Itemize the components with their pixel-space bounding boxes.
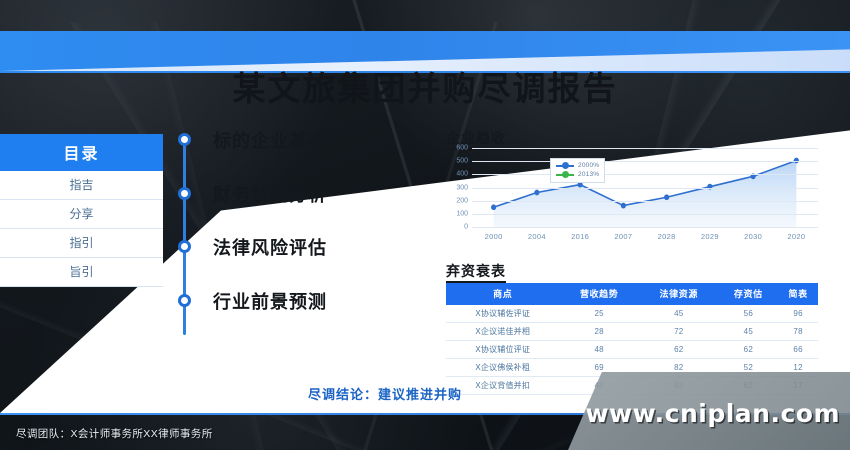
toc-item-3[interactable]: 指引 (0, 229, 163, 258)
chart-x-tick-label: 2004 (528, 232, 546, 241)
table-cell-value: 25 (559, 305, 639, 323)
table-column-header: 存资估 (719, 283, 779, 305)
timeline-row-2[interactable]: 财务状况分析 (175, 184, 425, 238)
chart-y-tick-label: 500 (456, 158, 468, 165)
watermark-text: www.cniplan.com (585, 399, 840, 428)
chart-gridline (472, 227, 818, 228)
chart-x-tick-label: 2030 (744, 232, 762, 241)
table-cell-name: X企议诺佳并相 (446, 323, 559, 341)
chart-section-title: 企业趋收 (446, 128, 506, 148)
table-cell-value: 62 (719, 341, 779, 359)
toc-item-4[interactable]: 旨引 (0, 258, 163, 287)
timeline-row-3[interactable]: 法律风险评估 (175, 237, 425, 291)
table-of-contents: 目录 指吉 分享 指引 旨引 (0, 134, 163, 287)
chart-x-tick-label: 2016 (571, 232, 589, 241)
chart-data-point (664, 194, 669, 200)
timeline-dot-icon (178, 240, 191, 253)
table-row[interactable]: X协议辅位评证48626266 (446, 341, 818, 359)
chart-x-tick-label: 2028 (658, 232, 676, 241)
table-cell-value: 48 (559, 341, 639, 359)
legend-entry-1: 2000% (556, 161, 599, 170)
timeline-row-4[interactable]: 行业前景预测 (175, 291, 425, 345)
timeline-label-3: 法律风险评估 (213, 234, 327, 260)
chart-gridline (472, 214, 818, 215)
timeline-label-2: 财务状况分析 (213, 181, 327, 207)
table-column-header: 简表 (778, 283, 818, 305)
table-cell-value: 45 (719, 323, 779, 341)
conclusion-text: 尽调结论：建议推进并购 (175, 384, 595, 403)
table-cell-name: X协议辅佐评证 (446, 305, 559, 323)
chart-y-tick-label: 400 (456, 171, 468, 178)
page-title: 某文旅集团并购尽调报告 (0, 62, 850, 110)
table-row[interactable]: X协议辅佐评证25455696 (446, 305, 818, 323)
chart-x-tick-label: 2029 (701, 232, 719, 241)
chart-x-tick-label: 2020 (787, 232, 805, 241)
table-cell-value: 56 (719, 305, 779, 323)
chart-y-tick-label: 300 (456, 184, 468, 191)
table-column-header: 法律资源 (639, 283, 719, 305)
table-cell-value: 62 (639, 341, 719, 359)
chart-plot-area: 0100200300400500600200020042016200720282… (472, 148, 818, 227)
legend-label-1: 2000% (578, 162, 599, 169)
timeline-label-1: 标的企业基本情况 (213, 127, 365, 153)
slide-canvas: 某文旅集团并购尽调报告 目录 指吉 分享 指引 旨引 标的企业基本情况 财务状况… (0, 0, 850, 450)
table-cell-name: X协议辅位评证 (446, 341, 559, 359)
timeline-dot-icon (178, 187, 191, 200)
table-row[interactable]: X企议诺佳并相28724578 (446, 323, 818, 341)
toc-item-1[interactable]: 指吉 (0, 171, 163, 200)
table-cell-value: 45 (639, 305, 719, 323)
table-cell-value: 66 (778, 341, 818, 359)
chart-data-point (491, 204, 496, 210)
table-column-header: 营收趋势 (559, 283, 639, 305)
chart-gridline (472, 188, 818, 189)
timeline-label-4: 行业前景预测 (213, 288, 327, 314)
chart-gridline (472, 161, 818, 162)
chart-x-tick-label: 2000 (485, 232, 503, 241)
agenda-timeline: 标的企业基本情况 财务状况分析 法律风险评估 行业前景预测 (175, 130, 425, 345)
legend-label-2: 2013% (578, 171, 599, 178)
chart-y-tick-label: 600 (456, 145, 468, 152)
revenue-trend-chart: 0100200300400500600200020042016200720282… (446, 148, 818, 243)
table-cell-name: X企议佛侯补租 (446, 359, 559, 377)
legend-marker-icon (556, 165, 574, 167)
legend-marker-icon (556, 174, 574, 176)
chart-y-tick-label: 0 (464, 224, 468, 231)
table-cell-value: 96 (778, 305, 818, 323)
table-header-row: 商点营收趋势法律资源存资估简表 (446, 283, 818, 305)
chart-y-tick-label: 100 (456, 210, 468, 217)
chart-gridline (472, 201, 818, 202)
chart-x-tick-label: 2007 (614, 232, 632, 241)
chart-y-tick-label: 200 (456, 197, 468, 204)
table-cell-value: 78 (778, 323, 818, 341)
chart-data-point (534, 190, 539, 196)
toc-item-2[interactable]: 分享 (0, 200, 163, 229)
chart-data-point (621, 203, 626, 209)
chart-gridline (472, 174, 818, 175)
chart-gridline (472, 148, 818, 149)
timeline-dot-icon (178, 294, 191, 307)
legend-entry-2: 2013% (556, 170, 599, 179)
table-cell-value: 72 (639, 323, 719, 341)
table-section-title: 弃资衰表 (446, 261, 506, 281)
table-column-header: 商点 (446, 283, 559, 305)
toc-header: 目录 (0, 134, 163, 171)
table-cell-value: 28 (559, 323, 639, 341)
timeline-row-1[interactable]: 标的企业基本情况 (175, 130, 425, 184)
footer-team-text: 尽调团队：X会计师事务所XX律师事务所 (16, 426, 213, 441)
timeline-dot-icon (178, 133, 191, 146)
chart-legend: 2000% 2013% (550, 158, 605, 183)
